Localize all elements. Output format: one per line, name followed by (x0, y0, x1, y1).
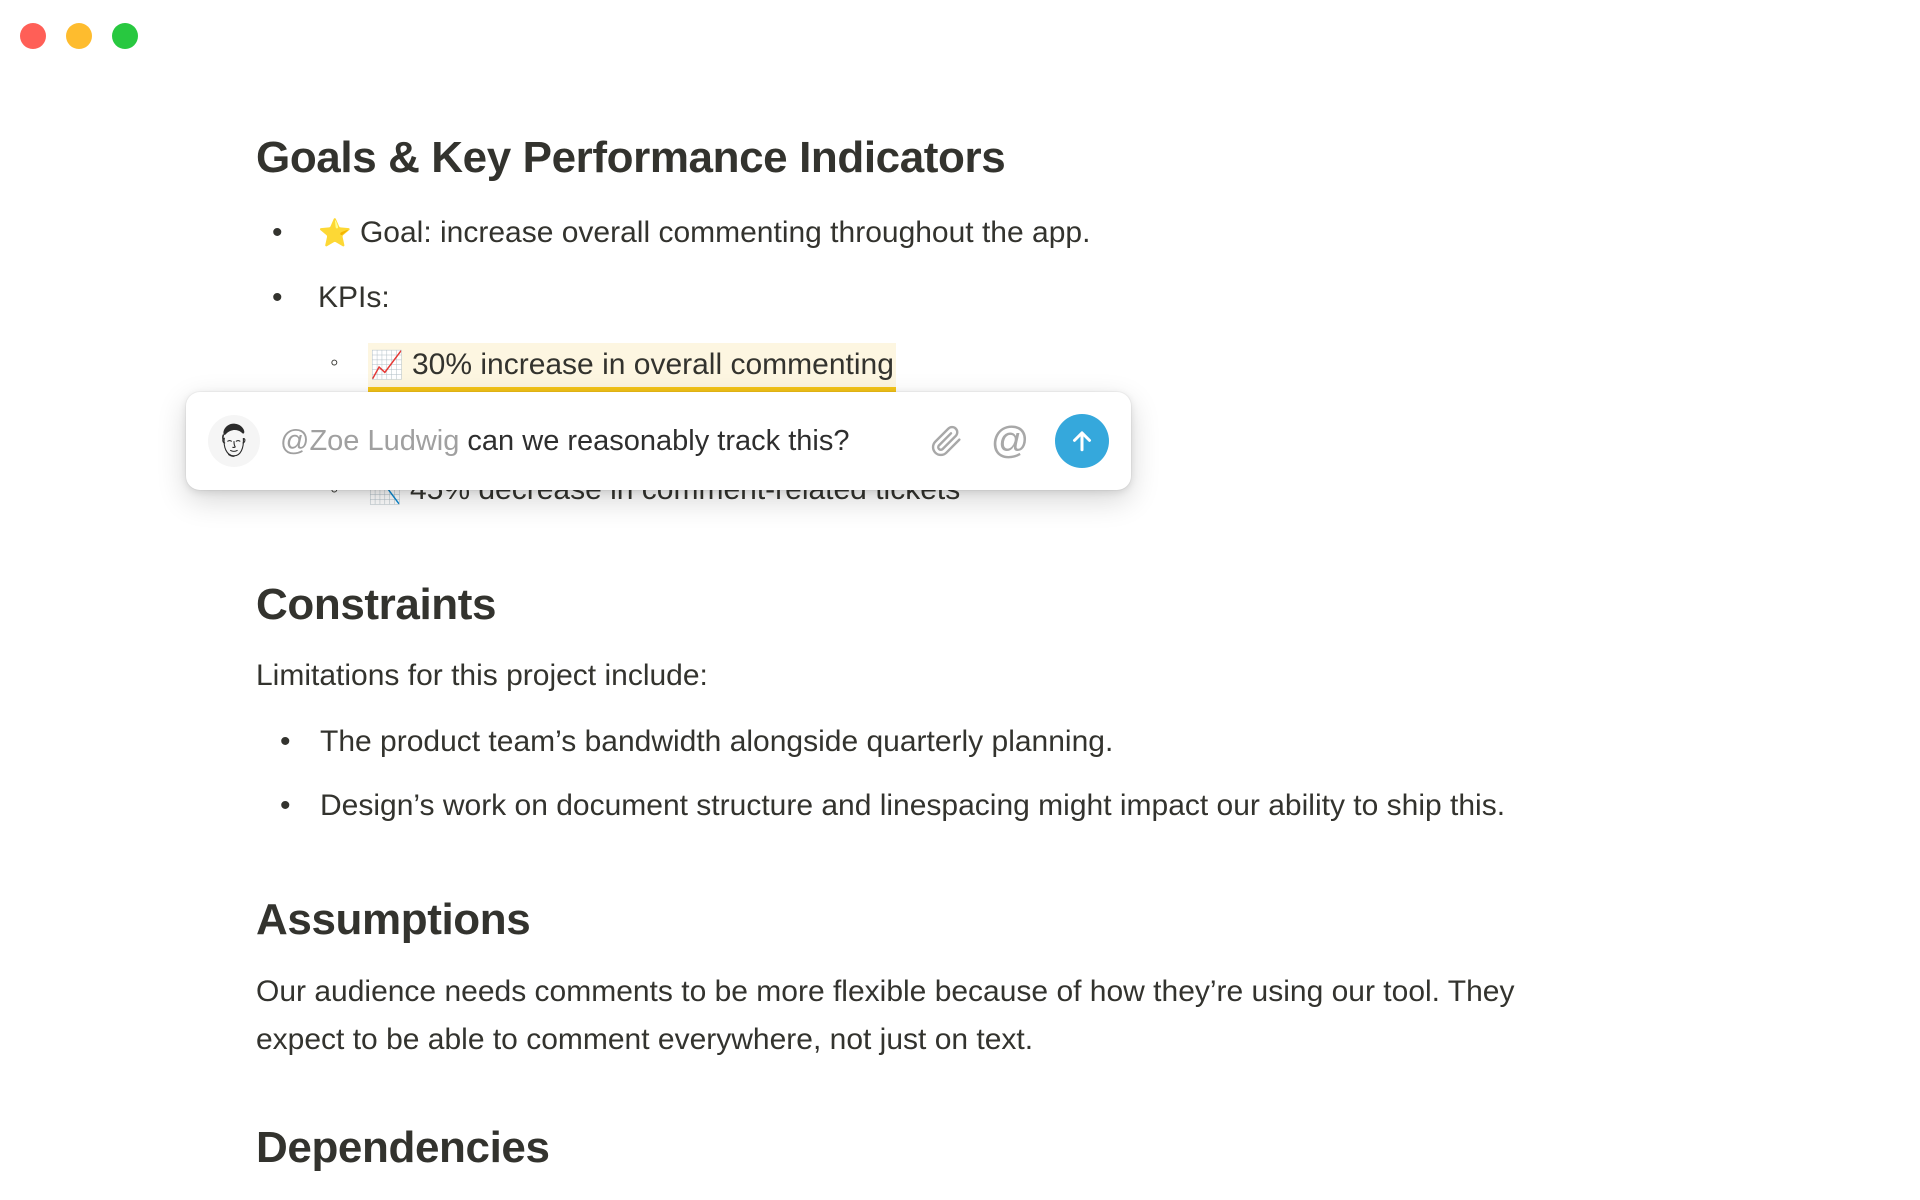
bullet-marker: • (280, 722, 291, 762)
bullet-marker: • (272, 213, 283, 253)
heading-dependencies: Dependencies (256, 1123, 550, 1173)
comment-composer-popup[interactable]: @Zoe Ludwig can we reasonably track this… (186, 392, 1131, 490)
app-window: Goals & Key Performance Indicators • ⭐ G… (0, 0, 1920, 1200)
constraints-intro-text: Limitations for this project include: (256, 652, 708, 700)
assumptions-paragraph: Our audience needs comments to be more f… (256, 968, 1676, 1064)
assumptions-line-2: expect to be able to comment everywhere,… (256, 1016, 1676, 1064)
assumptions-line-1: Our audience needs comments to be more f… (256, 968, 1676, 1016)
list-item-label: 30% increase in overall commenting (412, 348, 894, 381)
close-button[interactable] (20, 23, 46, 49)
list-item-content: 📈 30% increase in overall commenting (368, 343, 896, 392)
maximize-button[interactable] (112, 23, 138, 49)
list-item-label: Design’s work on document structure and … (320, 786, 1505, 826)
attach-button[interactable] (923, 418, 969, 464)
list-item-label: The product team’s bandwidth alongside q… (320, 722, 1113, 762)
minimize-button[interactable] (66, 23, 92, 49)
comment-body-text: can we reasonably track this? (459, 425, 849, 457)
arrow-up-icon (1067, 426, 1097, 456)
bullet-marker: • (272, 278, 283, 318)
list-item-content: ⭐ Goal: increase overall commenting thro… (318, 213, 1090, 254)
window-controls (20, 23, 138, 49)
comment-input[interactable]: @Zoe Ludwig can we reasonably track this… (280, 425, 905, 458)
bullet-marker-hollow: ◦ (330, 343, 339, 383)
mention-button[interactable]: @ (987, 418, 1033, 464)
list-item-label: KPIs: (318, 278, 390, 318)
paperclip-icon (929, 424, 963, 458)
mention-token[interactable]: @Zoe Ludwig (280, 425, 459, 457)
list-item-kpis[interactable]: • KPIs: (272, 278, 390, 318)
list-item-constraint-bandwidth[interactable]: • The product team’s bandwidth alongside… (280, 722, 1113, 762)
star-icon: ⭐ (318, 218, 352, 249)
list-item-constraint-design[interactable]: • Design’s work on document structure an… (280, 786, 1505, 826)
send-comment-button[interactable] (1055, 414, 1109, 468)
document-canvas[interactable]: Goals & Key Performance Indicators • ⭐ G… (0, 0, 1920, 1200)
heading-constraints: Constraints (256, 580, 496, 630)
list-item-kpi-increase[interactable]: ◦ 📈 30% increase in overall commenting (330, 343, 896, 392)
chart-increasing-icon: 📈 (370, 350, 404, 381)
at-icon: @ (991, 422, 1030, 460)
list-item-label: Goal: increase overall commenting throug… (360, 216, 1090, 249)
bullet-marker: • (280, 786, 291, 826)
list-item-goal[interactable]: • ⭐ Goal: increase overall commenting th… (272, 213, 1090, 254)
commented-text-highlight[interactable]: 📈 30% increase in overall commenting (368, 343, 896, 392)
heading-goals-kpis: Goals & Key Performance Indicators (256, 133, 1005, 183)
heading-assumptions: Assumptions (256, 895, 530, 945)
avatar (208, 415, 260, 467)
